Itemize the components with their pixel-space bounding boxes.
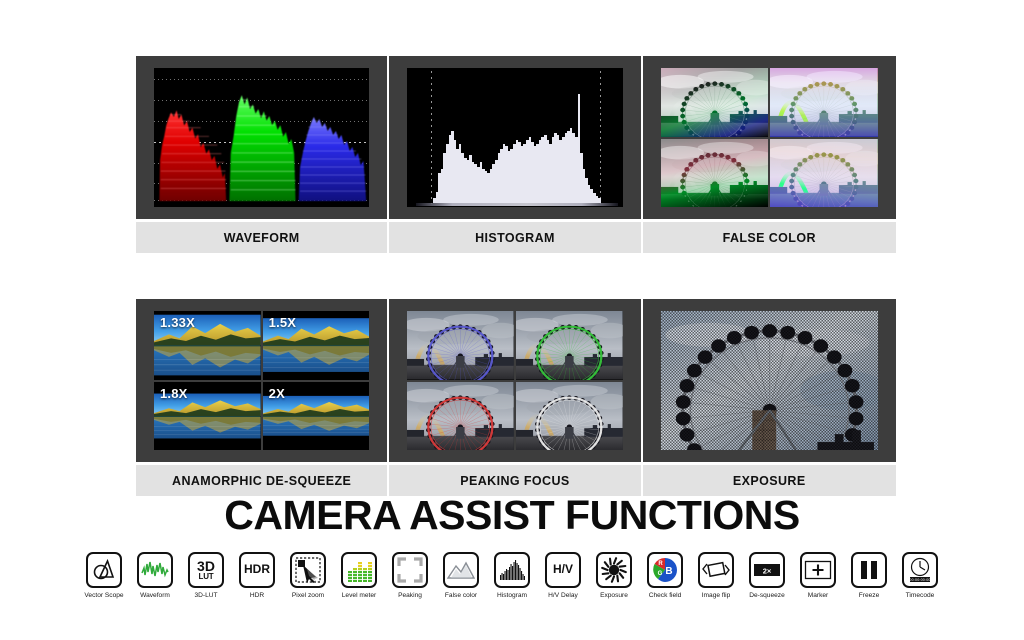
false-color-screen (661, 68, 878, 207)
peaking-cell-red[interactable] (407, 382, 514, 451)
level-meter-label: Level meter (342, 592, 376, 599)
anamorphic-screen: 1.33X (154, 311, 369, 450)
marker-icon[interactable] (800, 552, 836, 588)
svg-text:B: B (665, 566, 672, 577)
hdr-icon[interactable]: HDR (239, 552, 275, 588)
histogram-guide-left (431, 71, 432, 204)
hv-delay-label: H/V Delay (548, 592, 578, 599)
waveform-trace-blue (298, 101, 367, 201)
anamorphic-image (263, 396, 370, 436)
false-color-overlay (661, 68, 769, 137)
panel-histogram[interactable]: HISTOGRAM (389, 56, 642, 253)
icon-item-de-squeeze[interactable]: 2× De-squeeze (744, 552, 790, 599)
pixel-zoom-icon[interactable] (290, 552, 326, 588)
icon-item-check-field[interactable]: R G B Check field (642, 552, 688, 599)
scene-london-eye (407, 382, 514, 451)
icon-item-histogram[interactable]: Histogram (489, 552, 535, 599)
panel-caption-histogram: HISTOGRAM (389, 222, 642, 253)
anamorphic-cell[interactable]: 2X (263, 382, 370, 451)
hdr-label: HDR (250, 592, 264, 599)
peaking-icon[interactable] (392, 552, 428, 588)
false-color-quad (661, 68, 878, 207)
panel-row-1: WAVEFORM HISTOGRAM (136, 56, 896, 253)
3d-lut-label: 3D-LUT (194, 592, 217, 599)
panel-peaking[interactable]: PEAKING FOCUS (389, 299, 642, 496)
anamorphic-cell[interactable]: 1.8X (154, 382, 261, 451)
image-flip-icon[interactable] (698, 552, 734, 588)
panel-body-peaking (389, 299, 642, 462)
panel-exposure[interactable]: EXPOSURE (643, 299, 896, 496)
scene-london-eye (516, 311, 623, 380)
check-field-icon[interactable]: R G B (647, 552, 683, 588)
anamorphic-cell[interactable]: 1.5X (263, 311, 370, 380)
svg-text:R: R (658, 561, 663, 567)
peaking-quad (407, 311, 622, 450)
scene-london-eye (516, 382, 623, 451)
false-color-cell-4[interactable] (770, 139, 878, 208)
waveform-trace-red (158, 93, 227, 201)
icon-item-hv-delay[interactable]: H/VH/V Delay (540, 552, 586, 599)
false-color-cell-3[interactable] (661, 139, 769, 208)
icon-item-3d-lut[interactable]: 3D LUT3D-LUT (183, 552, 229, 599)
page-title: CAMERA ASSIST FUNCTIONS (0, 492, 1024, 539)
anamorphic-ratio-label: 1.8X (160, 386, 188, 401)
peaking-cell-blue[interactable] (407, 311, 514, 380)
false-color-overlay (661, 139, 769, 208)
histogram-label: Histogram (497, 592, 527, 599)
histogram-bars (433, 94, 601, 202)
waveform-icon[interactable] (137, 552, 173, 588)
panel-waveform[interactable]: WAVEFORM (136, 56, 389, 253)
histogram-baseline (416, 203, 618, 206)
icon-item-timecode[interactable]: 00:00:00:00 Timecode (897, 552, 943, 599)
panel-row-2: 1.33X (136, 299, 896, 496)
panel-body-anamorphic: 1.33X (136, 299, 389, 462)
panel-anamorphic[interactable]: 1.33X (136, 299, 389, 496)
panel-body-exposure (643, 299, 896, 462)
svg-text:00:00:00:00: 00:00:00:00 (909, 578, 930, 582)
svg-text:2×: 2× (763, 567, 772, 576)
icon-item-peaking[interactable]: Peaking (387, 552, 433, 599)
false-color-icon[interactable] (443, 552, 479, 588)
de-squeeze-label: De-squeeze (749, 592, 785, 599)
freeze-label: Freeze (859, 592, 880, 599)
peaking-cell-white[interactable] (516, 382, 623, 451)
waveform-label: Waveform (140, 592, 170, 599)
panel-body-waveform (136, 56, 389, 219)
false-color-cell-2[interactable] (770, 68, 878, 137)
exposure-icon[interactable] (596, 552, 632, 588)
vector-scope-label: Vector Scope (84, 592, 123, 599)
icon-item-hdr[interactable]: HDRHDR (234, 552, 280, 599)
de-squeeze-icon[interactable]: 2× (749, 552, 785, 588)
function-icon-strip: Vector Scope Waveform3D LUT3D-LUTHDRHDR … (0, 552, 1024, 599)
icon-item-false-color[interactable]: False color (438, 552, 484, 599)
timecode-label: Timecode (906, 592, 935, 599)
panel-caption-waveform: WAVEFORM (136, 222, 389, 253)
freeze-icon[interactable] (851, 552, 887, 588)
hdr-icon-text: HDR (244, 564, 270, 575)
zebra-overlay (661, 311, 878, 450)
pixel-zoom-label: Pixel zoom (292, 592, 324, 599)
icon-item-waveform[interactable]: Waveform (132, 552, 178, 599)
anamorphic-quad: 1.33X (154, 311, 369, 450)
exposure-screen (661, 311, 878, 450)
3d-lut-icon[interactable]: 3D LUT (188, 552, 224, 588)
hv-delay-icon-text: H/V (553, 564, 573, 575)
icon-item-freeze[interactable]: Freeze (846, 552, 892, 599)
waveform-screen (154, 68, 369, 207)
anamorphic-ratio-label: 2X (269, 386, 285, 401)
panel-body-histogram (389, 56, 642, 219)
false-color-overlay (770, 139, 878, 208)
vector-scope-icon[interactable] (86, 552, 122, 588)
icon-item-image-flip[interactable]: Image flip (693, 552, 739, 599)
exposure-label: Exposure (600, 592, 628, 599)
hv-delay-icon[interactable]: H/V (545, 552, 581, 588)
waveform-gridline (154, 79, 369, 80)
icon-item-level-meter[interactable]: Level meter (336, 552, 382, 599)
peaking-label: Peaking (398, 592, 422, 599)
histogram-screen (407, 68, 622, 207)
icon-item-exposure[interactable]: Exposure (591, 552, 637, 599)
panel-false-color[interactable]: FALSE COLOR (643, 56, 896, 253)
anamorphic-cell[interactable]: 1.33X (154, 311, 261, 380)
false-color-cell-1[interactable] (661, 68, 769, 137)
peaking-screen (407, 311, 622, 450)
marker-label: Marker (808, 592, 829, 599)
icon-item-marker[interactable]: Marker (795, 552, 841, 599)
peaking-cell-green[interactable] (516, 311, 623, 380)
false-color-overlay (770, 68, 878, 137)
3d-lut-icon-text: 3D LUT (197, 560, 215, 581)
panel-grid: WAVEFORM HISTOGRAM (136, 56, 896, 496)
svg-text:G: G (658, 571, 663, 577)
icon-item-vector-scope[interactable]: Vector Scope (81, 552, 127, 599)
anamorphic-ratio-label: 1.5X (269, 315, 297, 330)
timecode-icon[interactable]: 00:00:00:00 (902, 552, 938, 588)
waveform-trace-green (228, 86, 297, 201)
panel-caption-false-color: FALSE COLOR (643, 222, 896, 253)
image-flip-label: Image flip (702, 592, 731, 599)
anamorphic-ratio-label: 1.33X (160, 315, 195, 330)
check-field-label: Check field (649, 592, 682, 599)
level-meter-icon[interactable] (341, 552, 377, 588)
panel-body-false-color (643, 56, 896, 219)
false-color-label: False color (445, 592, 477, 599)
histogram-icon[interactable] (494, 552, 530, 588)
scene-london-eye (407, 311, 514, 380)
icon-item-pixel-zoom[interactable]: Pixel zoom (285, 552, 331, 599)
